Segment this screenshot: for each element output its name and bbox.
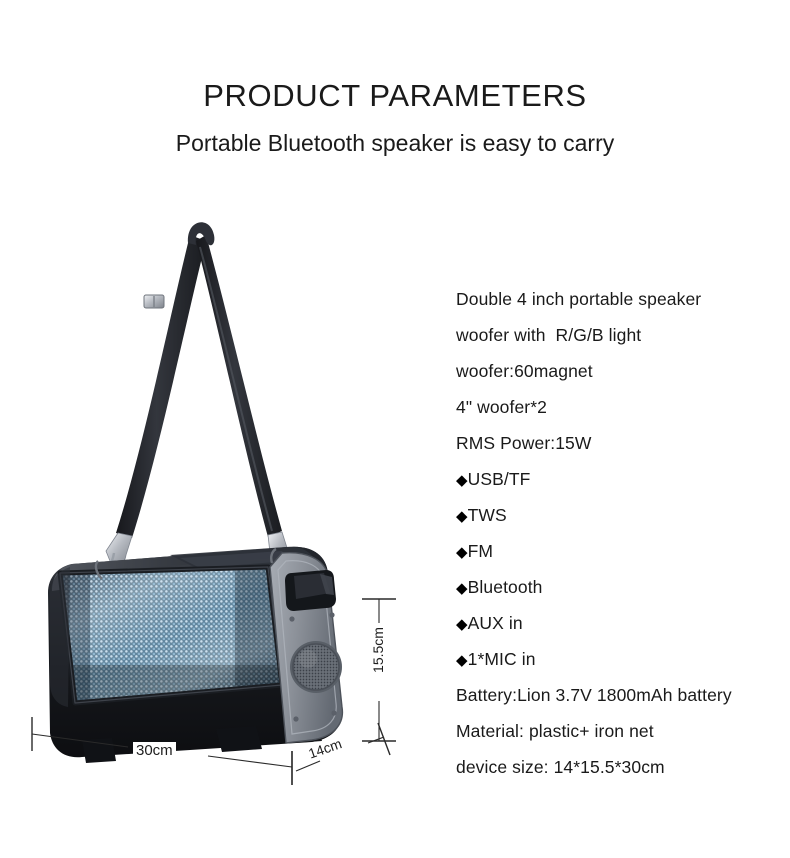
page-subtitle: Portable Bluetooth speaker is easy to ca…	[0, 130, 790, 157]
diamond-bullet-icon: ◆	[456, 508, 468, 525]
spec-line: 4" woofer*2	[456, 389, 786, 425]
page-title: PRODUCT PARAMETERS	[0, 78, 790, 114]
strap-adjuster-buckle	[144, 295, 164, 308]
spec-line: ◆USB/TF	[456, 461, 786, 497]
shoulder-strap	[96, 222, 288, 591]
spec-line: ◆FM	[456, 533, 786, 569]
spec-line-text: Material: plastic+ iron net	[456, 721, 654, 741]
spec-line-text: RMS Power:15W	[456, 433, 592, 453]
spec-line-text: device size: 14*15.5*30cm	[456, 757, 665, 777]
spec-line: ◆Bluetooth	[456, 569, 786, 605]
spec-line-text: 4" woofer*2	[456, 397, 547, 417]
spec-line: woofer:60magnet	[456, 353, 786, 389]
diamond-bullet-icon: ◆	[456, 472, 468, 489]
spec-line: ◆AUX in	[456, 605, 786, 641]
spec-line: woofer with R/G/B light	[456, 317, 786, 353]
spec-list: Double 4 inch portable speakerwoofer wit…	[456, 281, 786, 785]
spec-line-text: USB/TF	[468, 469, 531, 489]
spec-line-text: Bluetooth	[468, 577, 543, 597]
spec-line-text: TWS	[468, 505, 507, 525]
spec-line: Double 4 inch portable speaker	[456, 281, 786, 317]
spec-line-text: AUX in	[468, 613, 523, 633]
speaker-body	[48, 547, 342, 763]
spec-line: ◆TWS	[456, 497, 786, 533]
spec-line: Material: plastic+ iron net	[456, 713, 786, 749]
diamond-bullet-icon: ◆	[456, 580, 468, 597]
spec-line: device size: 14*15.5*30cm	[456, 749, 786, 785]
screw-icon	[329, 612, 334, 617]
spec-line-text: woofer with R/G/B light	[456, 325, 641, 345]
spec-line-text: 1*MIC in	[468, 649, 536, 669]
dimension-label-height: 15.5cm	[370, 624, 386, 676]
dimension-label-width: 30cm	[133, 742, 176, 759]
spec-line-text: Battery:Lion 3.7V 1800mAh battery	[456, 685, 732, 705]
spec-line: RMS Power:15W	[456, 425, 786, 461]
diamond-bullet-icon: ◆	[456, 652, 468, 669]
end-cap-driver	[290, 641, 342, 693]
spec-line-text: FM	[468, 541, 493, 561]
spec-line: Battery:Lion 3.7V 1800mAh battery	[456, 677, 786, 713]
spec-line-text: Double 4 inch portable speaker	[456, 289, 701, 309]
diamond-bullet-icon: ◆	[456, 616, 468, 633]
screw-icon	[293, 716, 298, 721]
carry-handle-cutout	[285, 570, 336, 611]
product-illustration	[20, 195, 440, 790]
screw-icon	[331, 710, 336, 715]
spec-line: ◆1*MIC in	[456, 641, 786, 677]
diamond-bullet-icon: ◆	[456, 544, 468, 561]
spec-line-text: woofer:60magnet	[456, 361, 593, 381]
screw-icon	[289, 616, 294, 621]
